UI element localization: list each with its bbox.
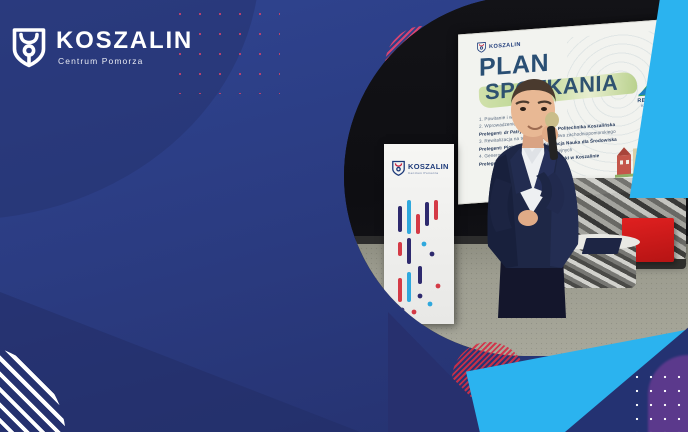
koszalin-shield-icon [477,41,486,53]
dot-grid-white-icon [628,368,688,432]
rollup-banner: KOSZALIN Centrum Pomorza [384,144,454,324]
event-photo-image: KOSZALIN PLAN SPOTKANIA 1. Powitanie i w… [344,0,688,356]
rollup-logo-subtitle: Centrum Pomorza [408,171,449,175]
page-root: KOSZALIN PLAN SPOTKANIA 1. Powitanie i w… [0,0,688,432]
brand-logo[interactable]: KOSZALIN Centrum Pomorza [12,26,193,68]
brand-tagline: Centrum Pomorza [58,57,193,66]
event-photo: KOSZALIN PLAN SPOTKANIA 1. Powitanie i w… [344,0,688,356]
rollup-logo-text: KOSZALIN [408,162,449,171]
koszalin-shield-icon [12,26,46,68]
rollup-logo: KOSZALIN Centrum Pomorza [392,160,454,176]
koszalin-shield-icon [392,160,405,176]
brand-logo-text: KOSZALIN Centrum Pomorza [56,29,193,66]
brand-name: KOSZALIN [56,29,193,53]
speaker-person [466,68,598,318]
rollup-pattern-icon [394,200,449,318]
slide-header-logo-text: KOSZALIN [489,41,521,49]
